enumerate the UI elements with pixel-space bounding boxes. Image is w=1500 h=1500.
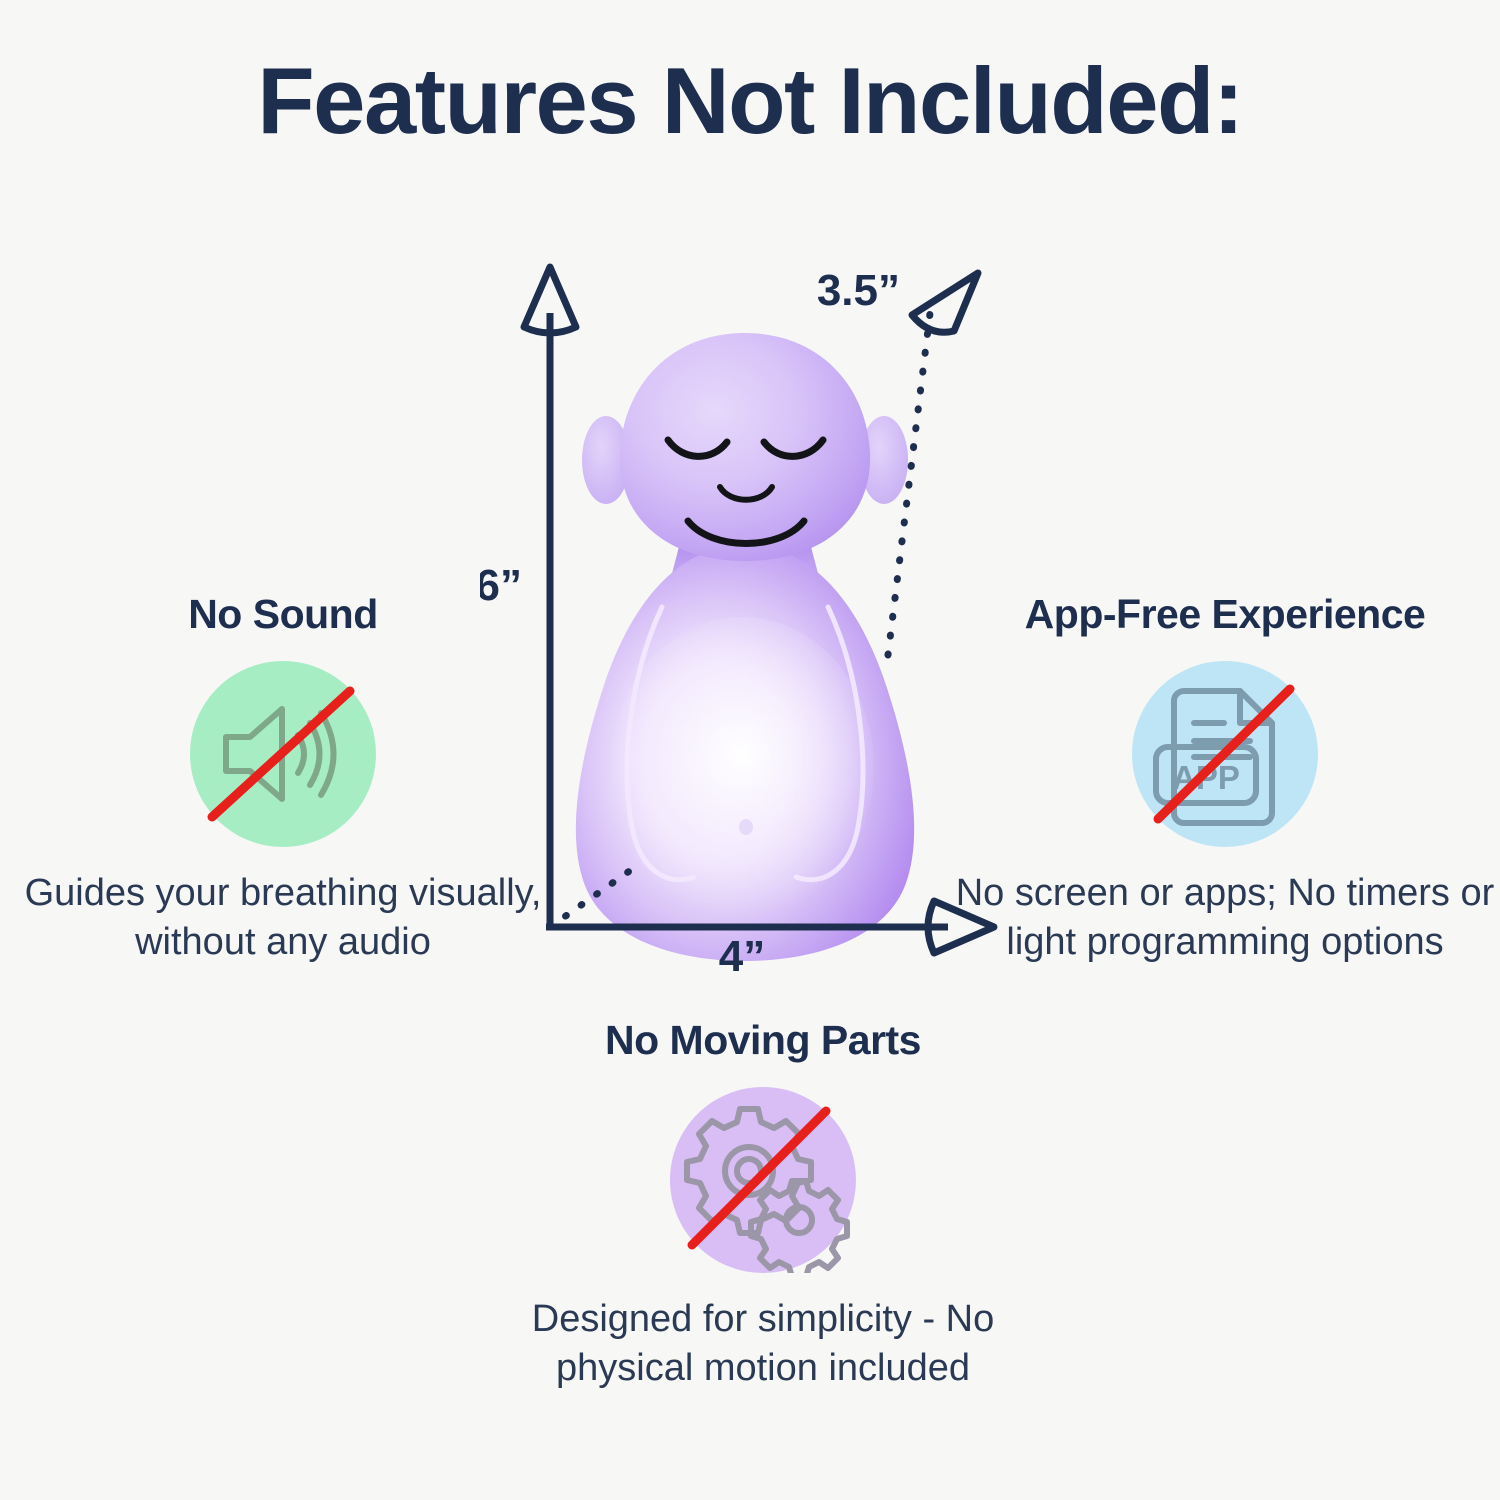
badge-app-free: APP — [1132, 661, 1318, 847]
muted-speaker-icon — [190, 661, 376, 847]
feature-title-app-free: App-Free Experience — [955, 592, 1495, 637]
gear-small-teeth — [751, 1181, 847, 1273]
gears-icon — [670, 1087, 856, 1273]
depth-label: 3.5” — [817, 266, 900, 315]
width-label: 4” — [719, 932, 765, 981]
gear-large-teeth — [687, 1109, 811, 1233]
badge-no-moving-parts — [670, 1087, 856, 1273]
product-figure — [576, 333, 914, 961]
product-head — [620, 333, 870, 561]
depth-arrowhead — [912, 273, 978, 332]
feature-desc-app-free: No screen or apps; No timers or light pr… — [955, 869, 1495, 967]
feature-title-no-sound: No Sound — [18, 592, 548, 637]
badge-no-sound — [190, 661, 376, 847]
page-title: Features Not Included: — [0, 52, 1500, 151]
feature-no-sound: No Sound Guides your breathing visually,… — [18, 592, 548, 967]
feature-app-free-experience: App-Free Experience APP No screen or app… — [955, 592, 1495, 967]
feature-title-no-moving-parts: No Moving Parts — [485, 1018, 1041, 1063]
navel — [739, 819, 753, 835]
feature-desc-no-sound: Guides your breathing visually, without … — [18, 869, 548, 967]
infographic-page: Features Not Included: — [0, 0, 1500, 1500]
app-document-icon: APP — [1132, 661, 1318, 847]
feature-desc-no-moving-parts: Designed for simplicity - No physical mo… — [485, 1295, 1041, 1393]
sound-wave-outer — [321, 713, 334, 795]
speaker-body — [226, 709, 282, 799]
feature-no-moving-parts: No Moving Parts Designed for simplicity … — [485, 1018, 1041, 1393]
